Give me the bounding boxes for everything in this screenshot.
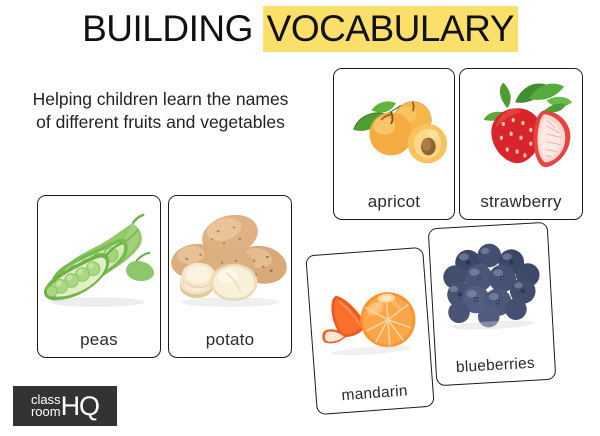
flashcard-label: blueberries	[436, 354, 555, 379]
flashcard-mandarin[interactable]: mandarin	[305, 247, 434, 415]
flashcard-peas[interactable]: peas	[37, 195, 161, 358]
title-plain-text: BUILDING	[82, 8, 263, 49]
potato-photo	[169, 196, 291, 312]
logo-hq-mark: HQ	[61, 393, 100, 420]
flashcard-label: strawberry	[460, 192, 582, 212]
classroomhq-logo[interactable]: class room HQ	[13, 386, 117, 426]
mandarin-photo	[306, 248, 430, 367]
flashcard-potato[interactable]: potato	[168, 195, 292, 358]
logo-line-2: room	[31, 406, 61, 419]
flashcard-label: mandarin	[316, 381, 433, 407]
flashcard-poster: BUILDING VOCABULARY Helping children lea…	[0, 0, 600, 436]
flashcard-strawberry[interactable]: strawberry	[459, 68, 583, 220]
peas-photo	[38, 196, 160, 312]
flashcard-label: apricot	[334, 192, 454, 212]
subtitle-text: Helping children learn the names of diff…	[28, 88, 293, 134]
flashcard-apricot[interactable]: apricot	[333, 68, 455, 220]
flashcard-blueberries[interactable]: blueberries	[428, 222, 557, 386]
page-title: BUILDING VOCABULARY	[0, 8, 600, 50]
blueberries-photo	[429, 223, 553, 335]
title-highlighted-text: VOCABULARY	[263, 6, 518, 52]
apricot-photo	[334, 69, 454, 177]
flashcard-label: potato	[169, 330, 291, 350]
strawberry-photo	[460, 69, 582, 177]
flashcard-label: peas	[38, 330, 160, 350]
